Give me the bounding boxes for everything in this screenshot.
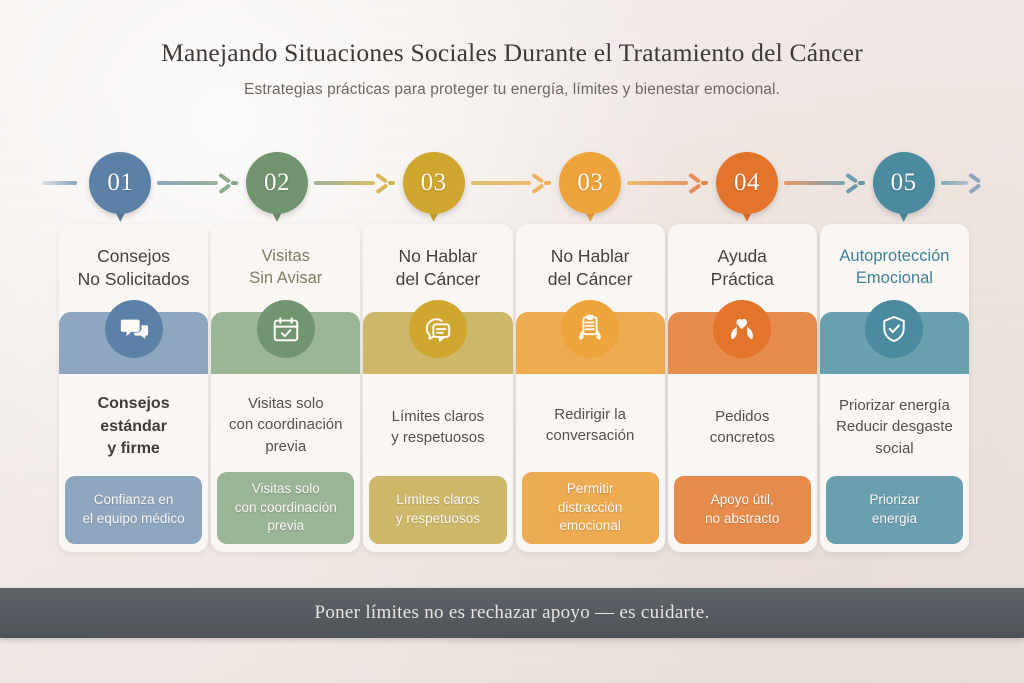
marker-number: 05 — [891, 169, 917, 197]
timeline-arrow-1 — [217, 174, 230, 192]
banner-text: Poner límites no es rechazar apoyo — es … — [314, 602, 709, 624]
card-icon-band — [59, 312, 208, 374]
timeline-connector-start — [42, 181, 77, 185]
card-icon-band — [668, 312, 817, 374]
card-body-line-2: y respetuosos — [391, 427, 484, 448]
card-footer-line-1: Priorizar — [869, 491, 919, 510]
card-body-line-2: conversación — [546, 425, 634, 446]
shield-check-icon — [865, 300, 923, 358]
card-title: No Hablardel Cáncer — [363, 224, 512, 312]
card-title-line-1: No Hablar — [399, 245, 478, 268]
card-body-line-1: Priorizar energía — [839, 395, 950, 416]
card-footer-pill: Límites clarosy respetuosos — [369, 476, 506, 544]
step-card-2[interactable]: VisitasSin Avisar Visitas solocon coordi… — [211, 224, 360, 552]
card-title-line-2: Emocional — [856, 268, 933, 290]
step-cards: ConsejosNo Solicitados Consejosestándary… — [59, 224, 969, 552]
card-footer-line-2: distracción — [558, 499, 623, 518]
card-footer-line-1: Límites claros — [396, 491, 480, 510]
timeline-marker-3[interactable]: 03 — [403, 152, 465, 226]
card-body: Visitas solocon coordinaciónprevia — [211, 374, 360, 472]
step-card-4[interactable]: No Hablardel Cáncer Redirigir laconversa… — [516, 224, 665, 552]
page-subtitle: Estrategias prácticas para proteger tu e… — [0, 81, 1024, 99]
timeline-connector-5 — [784, 181, 845, 185]
marker-number: 03 — [577, 169, 603, 197]
timeline-row: 010203030405 — [42, 152, 982, 228]
card-title-line-2: Práctica — [711, 268, 774, 291]
timeline-dash-1 — [231, 181, 238, 185]
card-icon-band — [516, 312, 665, 374]
step-card-5[interactable]: AyudaPráctica PedidosconcretosApoyo útil… — [668, 224, 817, 552]
step-card-1[interactable]: ConsejosNo Solicitados Consejosestándary… — [59, 224, 208, 552]
calendar-check-icon — [257, 300, 315, 358]
card-body-line-2: Reducir desgaste — [836, 416, 953, 437]
timeline-arrow-3 — [530, 174, 543, 192]
timeline-arrow-5 — [844, 174, 857, 192]
card-icon-band — [363, 312, 512, 374]
marker-circle: 03 — [403, 152, 465, 214]
card-footer-pill: Priorizarenergia — [826, 476, 963, 544]
card-footer-pill: Visitas solocon coordinaciónprevia — [217, 472, 354, 544]
timeline-marker-5[interactable]: 04 — [716, 152, 778, 226]
header: Manejando Situaciones Sociales Durante e… — [0, 38, 1024, 99]
card-title-line-1: No Hablar — [551, 245, 630, 268]
hands-heart-icon — [713, 300, 771, 358]
timeline-arrow-end — [967, 174, 980, 192]
marker-circle: 05 — [873, 152, 935, 214]
card-title-line-1: Autoprotección — [839, 246, 949, 268]
card-title-line-2: Sin Avisar — [249, 268, 322, 290]
card-body-line-1: Visitas solo — [248, 393, 324, 414]
card-footer-pill: Apoyo útil,no abstracto — [674, 476, 811, 544]
step-card-3[interactable]: No Hablardel Cáncer Límites clarosy resp… — [363, 224, 512, 552]
card-footer-line-2: el equipo médico — [83, 510, 185, 529]
timeline-connector-1 — [157, 181, 218, 185]
timeline-dash-2 — [388, 181, 395, 185]
card-body-line-3: social — [875, 438, 913, 459]
card-body: Consejosestándary firme — [59, 374, 208, 476]
card-footer-line-3: emocional — [558, 517, 623, 536]
footer-banner: Poner límites no es rechazar apoyo — es … — [0, 588, 1024, 638]
card-title-line-2: del Cáncer — [396, 268, 481, 291]
timeline-marker-6[interactable]: 05 — [873, 152, 935, 226]
card-footer-line-1: Confianza en — [83, 491, 185, 510]
card-title-line-2: No Solicitados — [78, 268, 190, 291]
timeline-connector-4 — [627, 181, 688, 185]
page-title: Manejando Situaciones Sociales Durante e… — [0, 38, 1024, 68]
timeline: 010203030405 — [42, 152, 982, 228]
card-title: AutoprotecciónEmocional — [820, 224, 969, 312]
card-title-line-1: Ayuda — [718, 245, 767, 268]
card-body: Límites clarosy respetuosos — [363, 374, 512, 476]
card-footer-line-2: con coordinación — [235, 499, 337, 518]
card-title: AyudaPráctica — [668, 224, 817, 312]
card-body-line-2: concretos — [710, 427, 775, 448]
card-body-line-1: Redirigir la — [554, 404, 626, 425]
marker-circle: 04 — [716, 152, 778, 214]
timeline-dash-5 — [858, 181, 865, 185]
card-title: No Hablardel Cáncer — [516, 224, 665, 312]
clipboard-hands-icon — [561, 300, 619, 358]
marker-number: 01 — [107, 169, 133, 197]
chat-lines-icon — [409, 300, 467, 358]
card-footer-line-2: y respetuosos — [396, 510, 480, 529]
card-body: Redirigir laconversación — [516, 374, 665, 472]
card-title: ConsejosNo Solicitados — [59, 224, 208, 312]
card-body-line-3: y firme — [107, 438, 159, 461]
card-title-line-1: Consejos — [97, 245, 170, 268]
step-card-6[interactable]: AutoprotecciónEmocional Priorizar energí… — [820, 224, 969, 552]
card-body-line-2: estándar — [100, 416, 167, 439]
card-title: VisitasSin Avisar — [211, 224, 360, 312]
timeline-marker-2[interactable]: 02 — [246, 152, 308, 226]
card-body: Priorizar energíaReducir desgastesocial — [820, 374, 969, 476]
card-body-line-1: Límites claros — [392, 406, 485, 427]
marker-number: 03 — [421, 169, 447, 197]
card-footer-line-1: Permitir — [558, 480, 623, 499]
card-title-line-2: del Cáncer — [548, 268, 633, 291]
card-body-line-1: Consejos — [98, 393, 170, 416]
timeline-marker-1[interactable]: 01 — [89, 152, 151, 226]
marker-circle: 01 — [89, 152, 151, 214]
timeline-dash-4 — [701, 181, 708, 185]
card-footer-pill: Permitirdistracciónemocional — [522, 472, 659, 544]
card-footer-line-2: no abstracto — [705, 510, 779, 529]
card-body: Pedidosconcretos — [668, 374, 817, 476]
card-icon-band — [820, 312, 969, 374]
card-body-line-3: previa — [265, 436, 306, 457]
timeline-dash-3 — [544, 181, 551, 185]
timeline-arrow-2 — [374, 174, 387, 192]
card-footer-line-1: Visitas solo — [235, 480, 337, 499]
speech-bubbles-icon — [105, 300, 163, 358]
card-body-line-1: Pedidos — [715, 406, 769, 427]
timeline-marker-4[interactable]: 03 — [559, 152, 621, 226]
timeline-connector-3 — [471, 181, 532, 185]
timeline-connector-end — [941, 181, 968, 185]
card-footer-line-3: previa — [235, 517, 337, 536]
card-footer-pill: Confianza enel equipo médico — [65, 476, 202, 544]
marker-number: 02 — [264, 169, 290, 197]
timeline-connector-2 — [314, 181, 375, 185]
card-title-line-1: Visitas — [262, 246, 310, 268]
marker-circle: 02 — [246, 152, 308, 214]
card-body-line-2: con coordinación — [229, 414, 342, 435]
marker-number: 04 — [734, 169, 760, 197]
timeline-arrow-4 — [687, 174, 700, 192]
marker-circle: 03 — [559, 152, 621, 214]
card-footer-line-2: energia — [869, 510, 919, 529]
card-icon-band — [211, 312, 360, 374]
card-footer-line-1: Apoyo útil, — [705, 491, 779, 510]
